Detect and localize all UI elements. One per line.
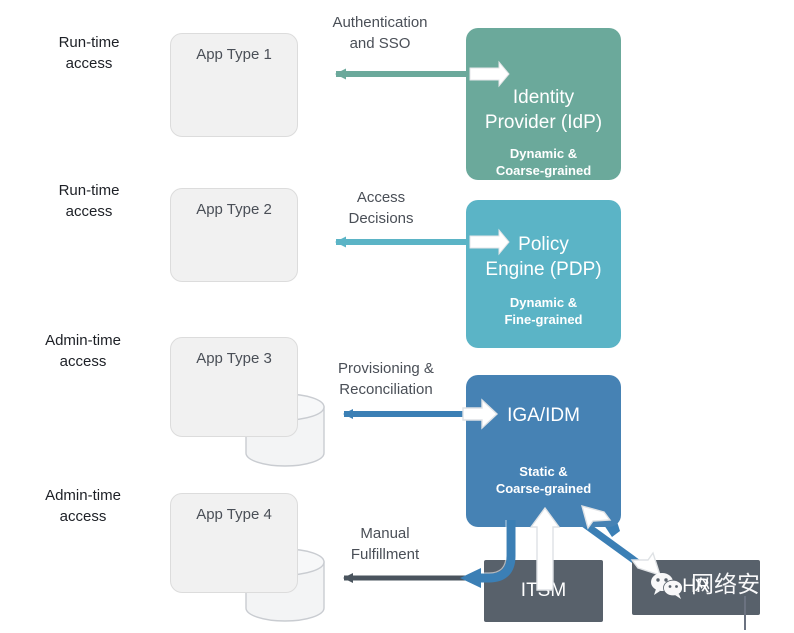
row-label-4-line1: Admin-time bbox=[8, 485, 158, 506]
app-box-app4-label: App Type 4 bbox=[171, 506, 297, 523]
app-box-app3[interactable]: App Type 3 bbox=[170, 337, 298, 437]
row-label-1: Run-time access bbox=[14, 32, 164, 74]
row-label-3-line1: Admin-time bbox=[8, 330, 158, 351]
wechat-logo bbox=[650, 572, 684, 599]
row-label-2-line1: Run-time bbox=[14, 180, 164, 201]
connector-label-manual-fulfillment: Manual Fulfillment bbox=[314, 523, 456, 565]
service-box-idp-subtitle-line1: Dynamic & bbox=[466, 145, 621, 162]
row-label-2: Run-time access bbox=[14, 180, 164, 222]
row-label-2-line2: access bbox=[14, 201, 164, 222]
connector-label-manual-fulfillment-line2: Fulfillment bbox=[314, 544, 456, 565]
app-box-app1-label: App Type 1 bbox=[171, 46, 297, 63]
row-label-4: Admin-time access bbox=[8, 485, 158, 527]
watermark-tick bbox=[744, 596, 746, 630]
connector-label-authentication-line1: Authentication bbox=[300, 12, 460, 33]
service-box-pdp-subtitle-line2: Fine-grained bbox=[466, 311, 621, 328]
connector-label-access-decisions-line2: Decisions bbox=[306, 208, 456, 229]
app-box-app4[interactable]: App Type 4 bbox=[170, 493, 298, 593]
watermark-text: 网络安全观 bbox=[691, 574, 794, 597]
service-box-pdp-title-line2: Engine (PDP) bbox=[466, 257, 621, 282]
service-box-iga-subtitle-line1: Static & bbox=[466, 463, 621, 480]
app-box-app2[interactable]: App Type 2 bbox=[170, 188, 298, 282]
service-box-idp-title-line1: Identity bbox=[466, 85, 621, 110]
service-box-idp[interactable]: Identity Provider (IdP) Dynamic & Coarse… bbox=[466, 28, 621, 180]
row-label-1-line2: access bbox=[14, 53, 164, 74]
row-label-1-line1: Run-time bbox=[14, 32, 164, 53]
app-box-app3-label: App Type 3 bbox=[171, 350, 297, 367]
service-box-iga-title: IGA/IDM bbox=[466, 403, 621, 428]
service-box-pdp[interactable]: Policy Engine (PDP) Dynamic & Fine-grain… bbox=[466, 200, 621, 348]
row-label-3: Admin-time access bbox=[8, 330, 158, 372]
connector-label-access-decisions: Access Decisions bbox=[306, 187, 456, 229]
app-box-app2-label: App Type 2 bbox=[171, 201, 297, 218]
architecture-diagram: Run-time access Run-time access Admin-ti… bbox=[0, 0, 794, 633]
connector-label-authentication-line2: and SSO bbox=[300, 33, 460, 54]
node-itsm[interactable]: ITSM bbox=[484, 560, 603, 622]
service-box-idp-subtitle-line2: Coarse-grained bbox=[466, 162, 621, 179]
connector-label-authentication: Authentication and SSO bbox=[300, 12, 460, 54]
connector-label-provisioning-line1: Provisioning & bbox=[306, 358, 466, 379]
node-itsm-label: ITSM bbox=[484, 580, 603, 602]
watermark: 网络安全观 bbox=[650, 572, 794, 599]
connector-label-provisioning-line2: Reconciliation bbox=[306, 379, 466, 400]
service-box-iga[interactable]: IGA/IDM Static & Coarse-grained bbox=[466, 375, 621, 527]
service-box-pdp-subtitle-line1: Dynamic & bbox=[466, 294, 621, 311]
service-box-iga-subtitle-line2: Coarse-grained bbox=[466, 480, 621, 497]
row-label-4-line2: access bbox=[8, 506, 158, 527]
connector-label-provisioning: Provisioning & Reconciliation bbox=[306, 358, 466, 400]
connector-label-access-decisions-line1: Access bbox=[306, 187, 456, 208]
service-box-pdp-title-line1: Policy bbox=[466, 232, 621, 257]
app-box-app1[interactable]: App Type 1 bbox=[170, 33, 298, 137]
service-box-idp-title-line2: Provider (IdP) bbox=[466, 110, 621, 135]
connector-label-manual-fulfillment-line1: Manual bbox=[314, 523, 456, 544]
row-label-3-line2: access bbox=[8, 351, 158, 372]
